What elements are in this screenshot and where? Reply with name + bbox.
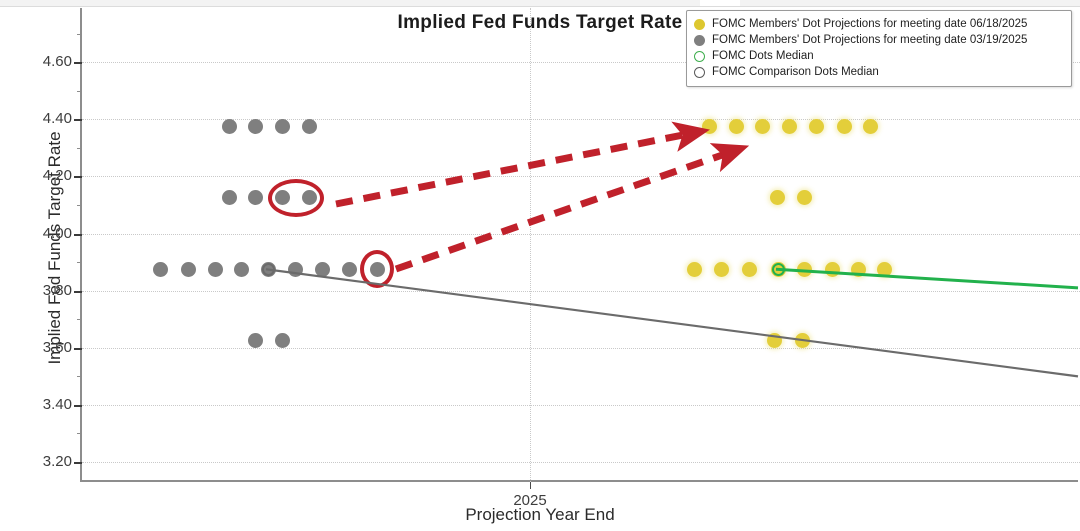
data-point-dot — [767, 333, 782, 348]
data-point-dot — [288, 262, 303, 277]
y-axis-tick-label: 3.20 — [20, 453, 72, 470]
y-axis-tick — [74, 234, 82, 236]
data-point-dot — [275, 119, 290, 134]
y-axis-minor-tick — [77, 205, 82, 206]
y-axis-title: Implied Fed Funds Target Rate — [45, 88, 65, 408]
data-point-dot — [877, 262, 892, 277]
data-point-dot — [770, 190, 785, 205]
y-axis-tick — [74, 405, 82, 407]
legend-item-label: FOMC Comparison Dots Median — [712, 66, 879, 79]
green-open-circle-icon — [694, 51, 705, 62]
data-point-dot — [714, 262, 729, 277]
data-point-dot — [275, 333, 290, 348]
y-axis-tick-label: 3.60 — [20, 339, 72, 356]
gridline-horizontal — [82, 291, 1080, 292]
gridline-horizontal — [82, 405, 1080, 406]
y-axis-minor-tick — [77, 433, 82, 434]
data-point-dot — [797, 190, 812, 205]
gridline-horizontal — [82, 176, 1080, 177]
data-point-dot — [248, 119, 263, 134]
legend-item-dots-median: FOMC Dots Median — [694, 48, 1064, 64]
legend-item-label: FOMC Members' Dot Projections for meetin… — [712, 18, 1027, 31]
window-top-strip — [0, 0, 1080, 7]
data-point-dot — [181, 262, 196, 277]
window-tab-gap — [700, 0, 740, 6]
chart-screenshot: Implied Fed Funds Target Rate Implied Fe… — [0, 0, 1080, 531]
data-point-dot — [248, 190, 263, 205]
data-point-dot — [809, 119, 824, 134]
y-axis-minor-tick — [77, 376, 82, 377]
y-axis-tick-label: 3.80 — [20, 282, 72, 299]
data-point-dot — [153, 262, 168, 277]
legend-item-label: FOMC Members' Dot Projections for meetin… — [712, 34, 1027, 47]
y-axis-minor-tick — [77, 319, 82, 320]
gridline-horizontal — [82, 348, 1080, 349]
data-point-dot — [755, 119, 770, 134]
data-point-dot — [302, 119, 317, 134]
data-point-dot — [222, 119, 237, 134]
data-point-dot — [222, 190, 237, 205]
y-axis-minor-tick — [77, 34, 82, 35]
y-axis-minor-tick — [77, 91, 82, 92]
legend-item-comparison-median: FOMC Comparison Dots Median — [694, 64, 1064, 80]
annotation-highlight-circle — [268, 179, 324, 217]
yellow-dot-icon — [694, 19, 705, 30]
y-axis-tick-label: 4.00 — [20, 225, 72, 242]
data-point-dot — [315, 262, 330, 277]
gray-dot-icon — [694, 35, 705, 46]
data-point-dot — [234, 262, 249, 277]
data-point-dot — [742, 262, 757, 277]
data-point-dot — [825, 262, 840, 277]
y-axis-tick-label: 4.40 — [20, 110, 72, 127]
gridline-horizontal — [82, 234, 1080, 235]
x-axis-tick-label: 2025 — [490, 492, 570, 509]
white-open-circle-icon — [694, 67, 705, 78]
legend-item-dots-061825: FOMC Members' Dot Projections for meetin… — [694, 16, 1064, 32]
annotation-highlight-circle — [360, 250, 394, 288]
data-point-dot — [837, 119, 852, 134]
data-point-dot — [729, 119, 744, 134]
data-point-dot — [702, 119, 717, 134]
median-marker — [262, 263, 275, 276]
data-point-dot — [248, 333, 263, 348]
y-axis-tick-label: 3.40 — [20, 396, 72, 413]
data-point-dot — [797, 262, 812, 277]
y-axis-tick-label: 4.20 — [20, 167, 72, 184]
data-point-dot — [342, 262, 357, 277]
data-point-dot — [687, 262, 702, 277]
x-axis-tick — [530, 482, 531, 489]
y-axis-tick — [74, 62, 82, 64]
legend-item-label: FOMC Dots Median — [712, 50, 814, 63]
data-point-dot — [782, 119, 797, 134]
chart-legend: FOMC Members' Dot Projections for meetin… — [686, 10, 1072, 87]
y-axis-tick — [74, 462, 82, 464]
y-axis-minor-tick — [77, 262, 82, 263]
gridline-horizontal — [82, 462, 1080, 463]
y-axis-tick — [74, 291, 82, 293]
legend-item-dots-031925: FOMC Members' Dot Projections for meetin… — [694, 32, 1064, 48]
y-axis-tick — [74, 348, 82, 350]
data-point-dot — [863, 119, 878, 134]
data-point-dot — [208, 262, 223, 277]
gridline-vertical — [530, 8, 531, 482]
y-axis-tick — [74, 176, 82, 178]
data-point-dot — [851, 262, 866, 277]
y-axis-tick-label: 4.60 — [20, 53, 72, 70]
median-marker — [772, 263, 785, 276]
data-point-dot — [795, 333, 810, 348]
y-axis-minor-tick — [77, 148, 82, 149]
y-axis-tick — [74, 119, 82, 121]
